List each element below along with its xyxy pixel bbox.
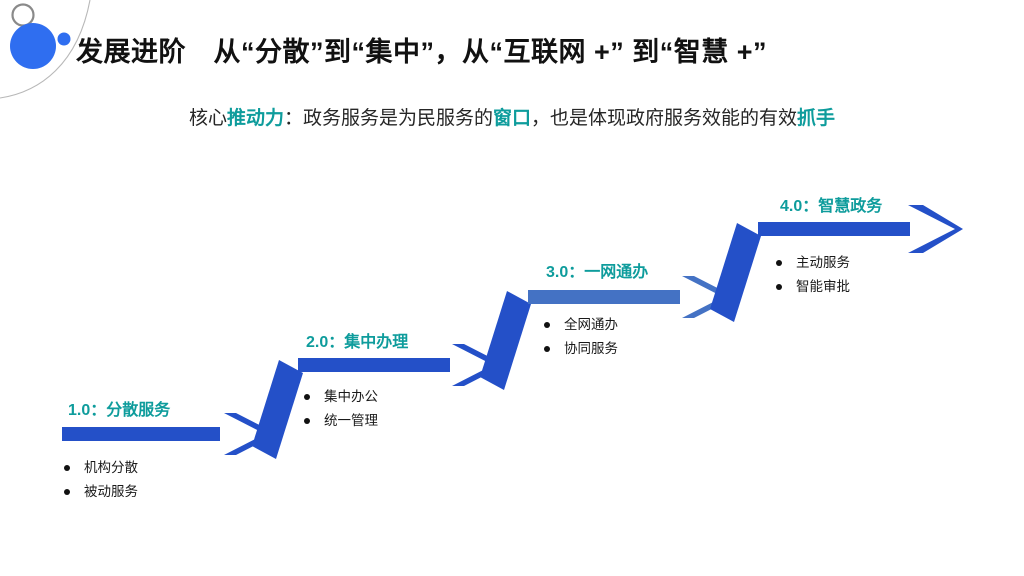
step-3-bullets: 全网通办 协同服务	[540, 313, 618, 361]
step-1-heading: 1.0：分散服务	[68, 396, 170, 420]
step-3-heading: 3.0：一网通办	[546, 258, 648, 282]
step-4-bar	[758, 222, 910, 236]
step-3-bullet-2: 协同服务	[540, 337, 618, 361]
step-3-bullet-1: 全网通办	[540, 313, 618, 337]
step-4-chevron-icon	[908, 205, 963, 253]
step-2-bullet-1: 集中办公	[300, 385, 378, 409]
step-4-bullets: 主动服务 智能审批	[772, 251, 850, 299]
step-1-bullet-2: 被动服务	[60, 480, 138, 504]
step-2-heading: 2.0：集中办理	[306, 328, 408, 352]
step-4-bullet-1: 主动服务	[772, 251, 850, 275]
step-4-heading: 4.0：智慧政务	[780, 192, 882, 216]
staircase-diagram	[0, 0, 1024, 576]
step-1-bullet-1: 机构分散	[60, 456, 138, 480]
step-2-to-3-riser	[480, 291, 531, 390]
step-3-bar	[528, 290, 680, 304]
step-2-bullet-2: 统一管理	[300, 409, 378, 433]
step-2-bar	[298, 358, 450, 372]
step-4-bullet-2: 智能审批	[772, 275, 850, 299]
step-2-bullets: 集中办公 统一管理	[300, 385, 378, 433]
step-1-bullets: 机构分散 被动服务	[60, 456, 138, 504]
step-1-bar	[62, 427, 220, 441]
step-3-to-4-riser	[710, 223, 761, 322]
step-1-to-2-riser	[252, 360, 303, 459]
